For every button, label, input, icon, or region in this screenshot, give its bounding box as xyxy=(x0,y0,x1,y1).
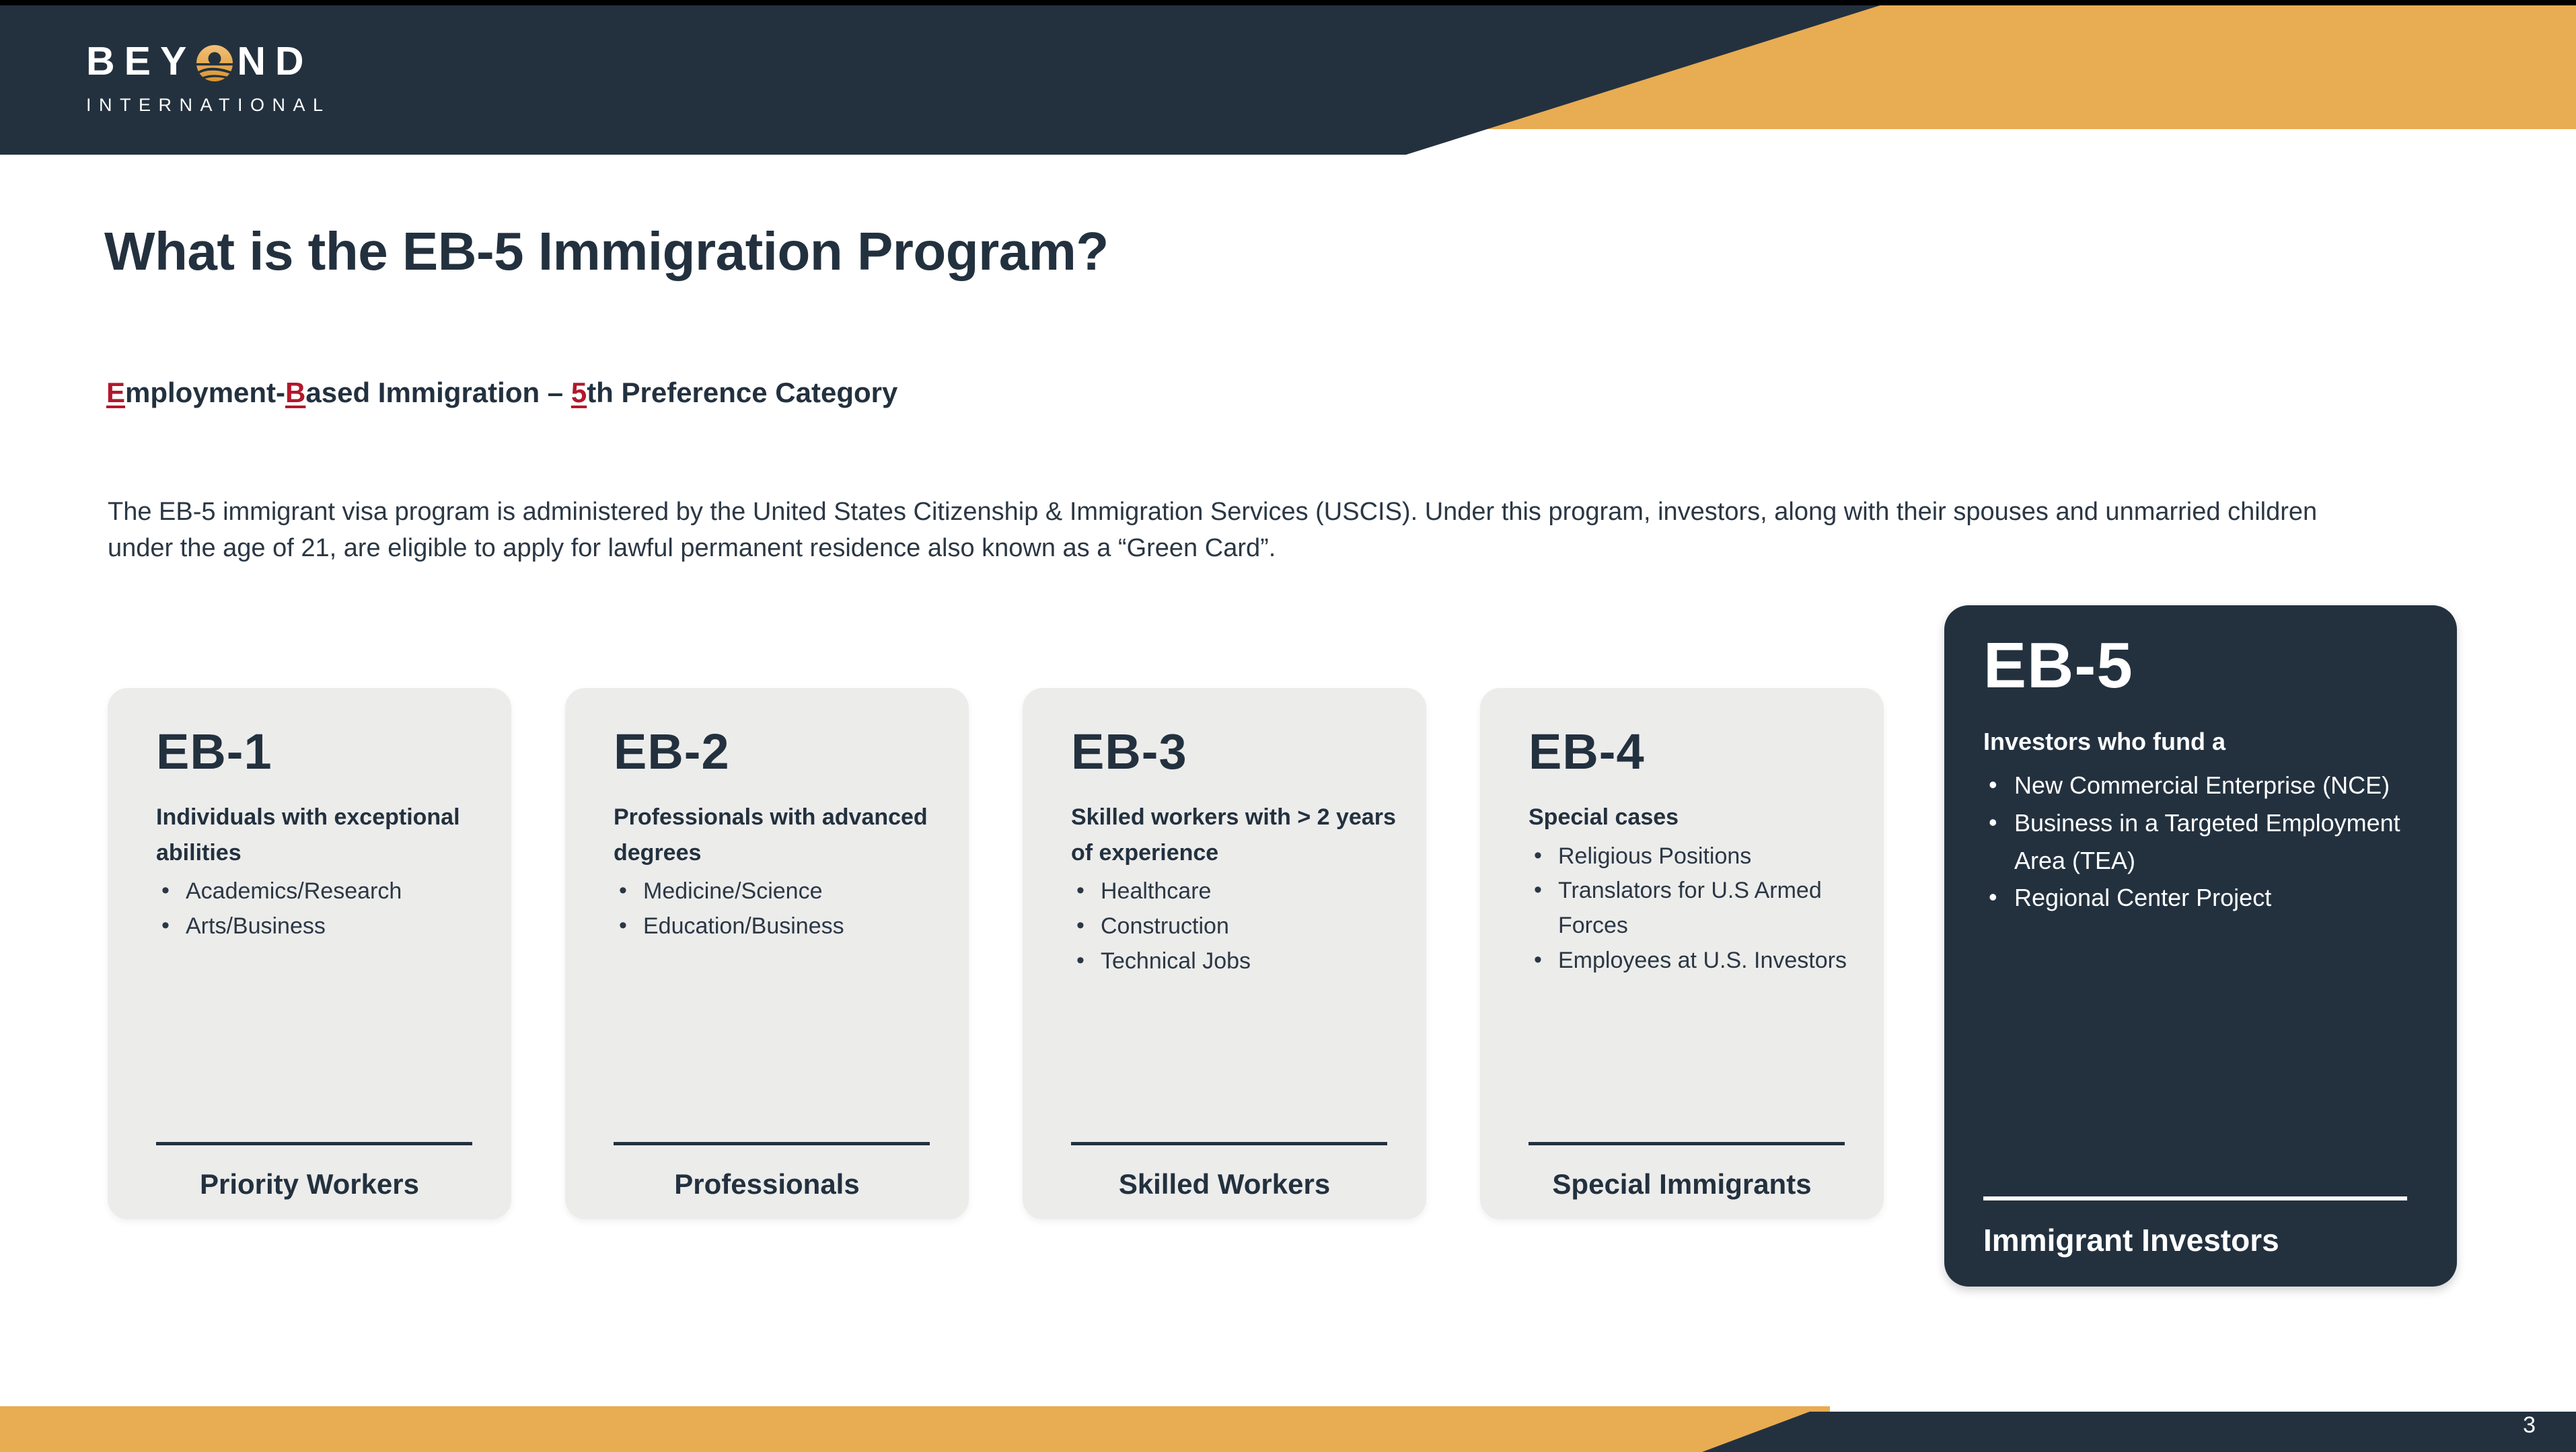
category-card-eb5-highlight[interactable]: EB-5 Investors who fund a New Commercial… xyxy=(1944,605,2457,1287)
card-divider-eb4 xyxy=(1529,1142,1845,1145)
sunrise-landscape-circle-icon xyxy=(196,44,233,82)
slide-footer: 3 xyxy=(0,1378,2576,1452)
card-code-eb2: EB-2 xyxy=(614,727,942,777)
card-code-eb5: EB-5 xyxy=(1983,634,2430,698)
card-list-eb2: Medicine/Science Education/Business xyxy=(614,874,942,944)
list-item: Academics/Research xyxy=(156,874,484,909)
brand-logo-be: BEY xyxy=(86,42,196,81)
list-item: Technical Jobs xyxy=(1071,944,1399,979)
card-divider-eb2 xyxy=(614,1142,930,1145)
category-card-eb3[interactable]: EB-3 Skilled workers with > 2 years of e… xyxy=(1023,688,1426,1219)
card-footer-eb4: Special Immigrants xyxy=(1480,1168,1884,1200)
card-footer-eb2: Professionals xyxy=(565,1168,969,1200)
list-item: Construction xyxy=(1071,909,1399,944)
slide: BEY xyxy=(0,0,2576,1452)
card-code-eb3: EB-3 xyxy=(1071,727,1399,777)
list-item: Religious Positions xyxy=(1529,839,1857,874)
category-card-eb1[interactable]: EB-1 Individuals with exceptional abilit… xyxy=(108,688,511,1219)
list-item: Translators for U.S Armed Forces xyxy=(1529,874,1857,943)
list-item: Healthcare xyxy=(1071,874,1399,909)
card-list-eb1: Academics/Research Arts/Business xyxy=(156,874,484,944)
card-divider-eb1 xyxy=(156,1142,472,1145)
card-footer-eb3: Skilled Workers xyxy=(1023,1168,1426,1200)
footer-gold-band xyxy=(0,1406,1830,1452)
card-list-eb5: New Commercial Enterprise (NCE) Business… xyxy=(1983,767,2430,917)
card-heading-eb2: Professionals with advanced degrees xyxy=(614,800,942,870)
card-heading-eb3: Skilled workers with > 2 years of experi… xyxy=(1071,800,1399,870)
card-heading-eb4: Special cases xyxy=(1529,800,1857,835)
brand-logo-wordmark: BEY xyxy=(86,42,331,81)
list-item: Arts/Business xyxy=(156,909,484,944)
card-divider-eb3 xyxy=(1071,1142,1387,1145)
list-item: Regional Center Project xyxy=(1983,879,2430,917)
card-heading-eb5: Investors who fund a xyxy=(1983,724,2430,760)
list-item: Education/Business xyxy=(614,909,942,944)
category-card-eb4[interactable]: EB-4 Special cases Religious Positions T… xyxy=(1480,688,1884,1219)
card-heading-eb1: Individuals with exceptional abilities xyxy=(156,800,484,870)
list-item: New Commercial Enterprise (NCE) xyxy=(1983,767,2430,804)
brand-logo[interactable]: BEY xyxy=(86,42,331,114)
page-number: 3 xyxy=(2523,1412,2536,1439)
card-list-eb4: Religious Positions Translators for U.S … xyxy=(1529,839,1857,979)
list-item: Business in a Targeted Employment Area (… xyxy=(1983,804,2430,880)
category-card-eb2[interactable]: EB-2 Professionals with advanced degrees… xyxy=(565,688,969,1219)
card-code-eb4: EB-4 xyxy=(1529,727,1857,777)
card-footer-eb5: Immigrant Investors xyxy=(1983,1222,2279,1258)
brand-logo-tagline: INTERNATIONAL xyxy=(86,96,331,114)
card-list-eb3: Healthcare Construction Technical Jobs xyxy=(1071,874,1399,979)
card-footer-eb1: Priority Workers xyxy=(108,1168,511,1200)
card-code-eb1: EB-1 xyxy=(156,727,484,777)
list-item: Employees at U.S. Investors xyxy=(1529,944,1857,979)
list-item: Medicine/Science xyxy=(614,874,942,909)
eb-category-cards: EB-1 Individuals with exceptional abilit… xyxy=(0,0,2576,1452)
brand-logo-nd: ND xyxy=(237,42,313,81)
card-divider-eb5 xyxy=(1983,1196,2407,1200)
